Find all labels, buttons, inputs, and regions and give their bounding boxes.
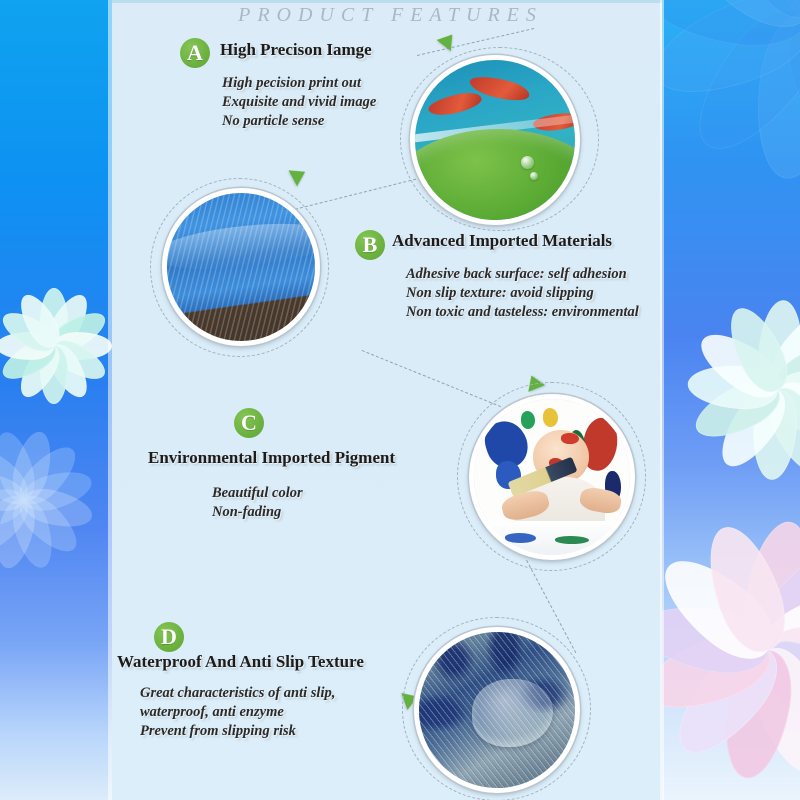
badge-d: D — [154, 622, 184, 652]
feature-line: waterproof, anti enzyme — [140, 703, 335, 722]
flower-ornament-right-bottom — [662, 520, 800, 780]
feature-line: Great characteristics of anti slip, — [140, 684, 335, 703]
feature-line: Non toxic and tasteless: environmental — [406, 303, 639, 322]
waterproof-marble-texture-photo — [414, 627, 580, 793]
feature-line: Non-fading — [212, 503, 303, 522]
feature-lines-d: Great characteristics of anti slip, wate… — [140, 684, 335, 741]
arrow-marker-a — [437, 29, 460, 51]
feature-line: Adhesive back surface: self adhesion — [406, 265, 639, 284]
right-decorative-band — [662, 0, 800, 800]
badge-b: B — [355, 230, 385, 260]
feature-line: Prevent from slipping risk — [140, 722, 335, 741]
photo-frame-d — [402, 617, 592, 800]
feature-lines-c: Beautiful color Non-fading — [212, 484, 303, 522]
feature-title-a: High Precison Iamge — [220, 40, 372, 60]
flower-ornament-right-top — [662, 0, 800, 180]
feature-line: Non slip texture: avoid slipping — [406, 284, 639, 303]
photo-frame-c — [457, 382, 647, 572]
infographic-canvas: PRODUCT FEATURES A High Precison Iamge H… — [0, 0, 800, 800]
page-title: PRODUCT FEATURES — [112, 4, 662, 27]
feature-line: Beautiful color — [212, 484, 303, 503]
feature-line: High pecision print out — [222, 74, 376, 93]
feature-title-d: Waterproof And Anti Slip Texture — [117, 652, 364, 672]
koi-pond-print-photo — [410, 55, 580, 225]
feature-line: No particle sense — [222, 112, 376, 131]
blue-fabric-texture-photo — [162, 188, 320, 346]
feature-lines-b: Adhesive back surface: self adhesion Non… — [406, 265, 639, 322]
photo-frame-a — [400, 47, 600, 232]
badge-a: A — [180, 38, 210, 68]
right-seam — [660, 0, 664, 800]
panel-top-rule — [112, 0, 662, 3]
baby-painting-photo — [469, 394, 635, 560]
left-decorative-band — [0, 0, 112, 800]
flower-ornament-left — [0, 288, 112, 404]
left-seam — [108, 0, 112, 800]
flower-ornament-left-lower — [0, 430, 94, 570]
flower-ornament-right-mid — [688, 300, 800, 480]
feature-title-c: Environmental Imported Pigment — [148, 448, 395, 468]
feature-title-b: Advanced Imported Materials — [392, 231, 612, 251]
badge-c: C — [234, 408, 264, 438]
feature-lines-a: High pecision print out Exquisite and vi… — [222, 74, 376, 131]
content-panel: PRODUCT FEATURES A High Precison Iamge H… — [112, 0, 662, 800]
photo-frame-b — [150, 178, 330, 358]
arrow-marker-b — [289, 164, 310, 186]
feature-line: Exquisite and vivid image — [222, 93, 376, 112]
